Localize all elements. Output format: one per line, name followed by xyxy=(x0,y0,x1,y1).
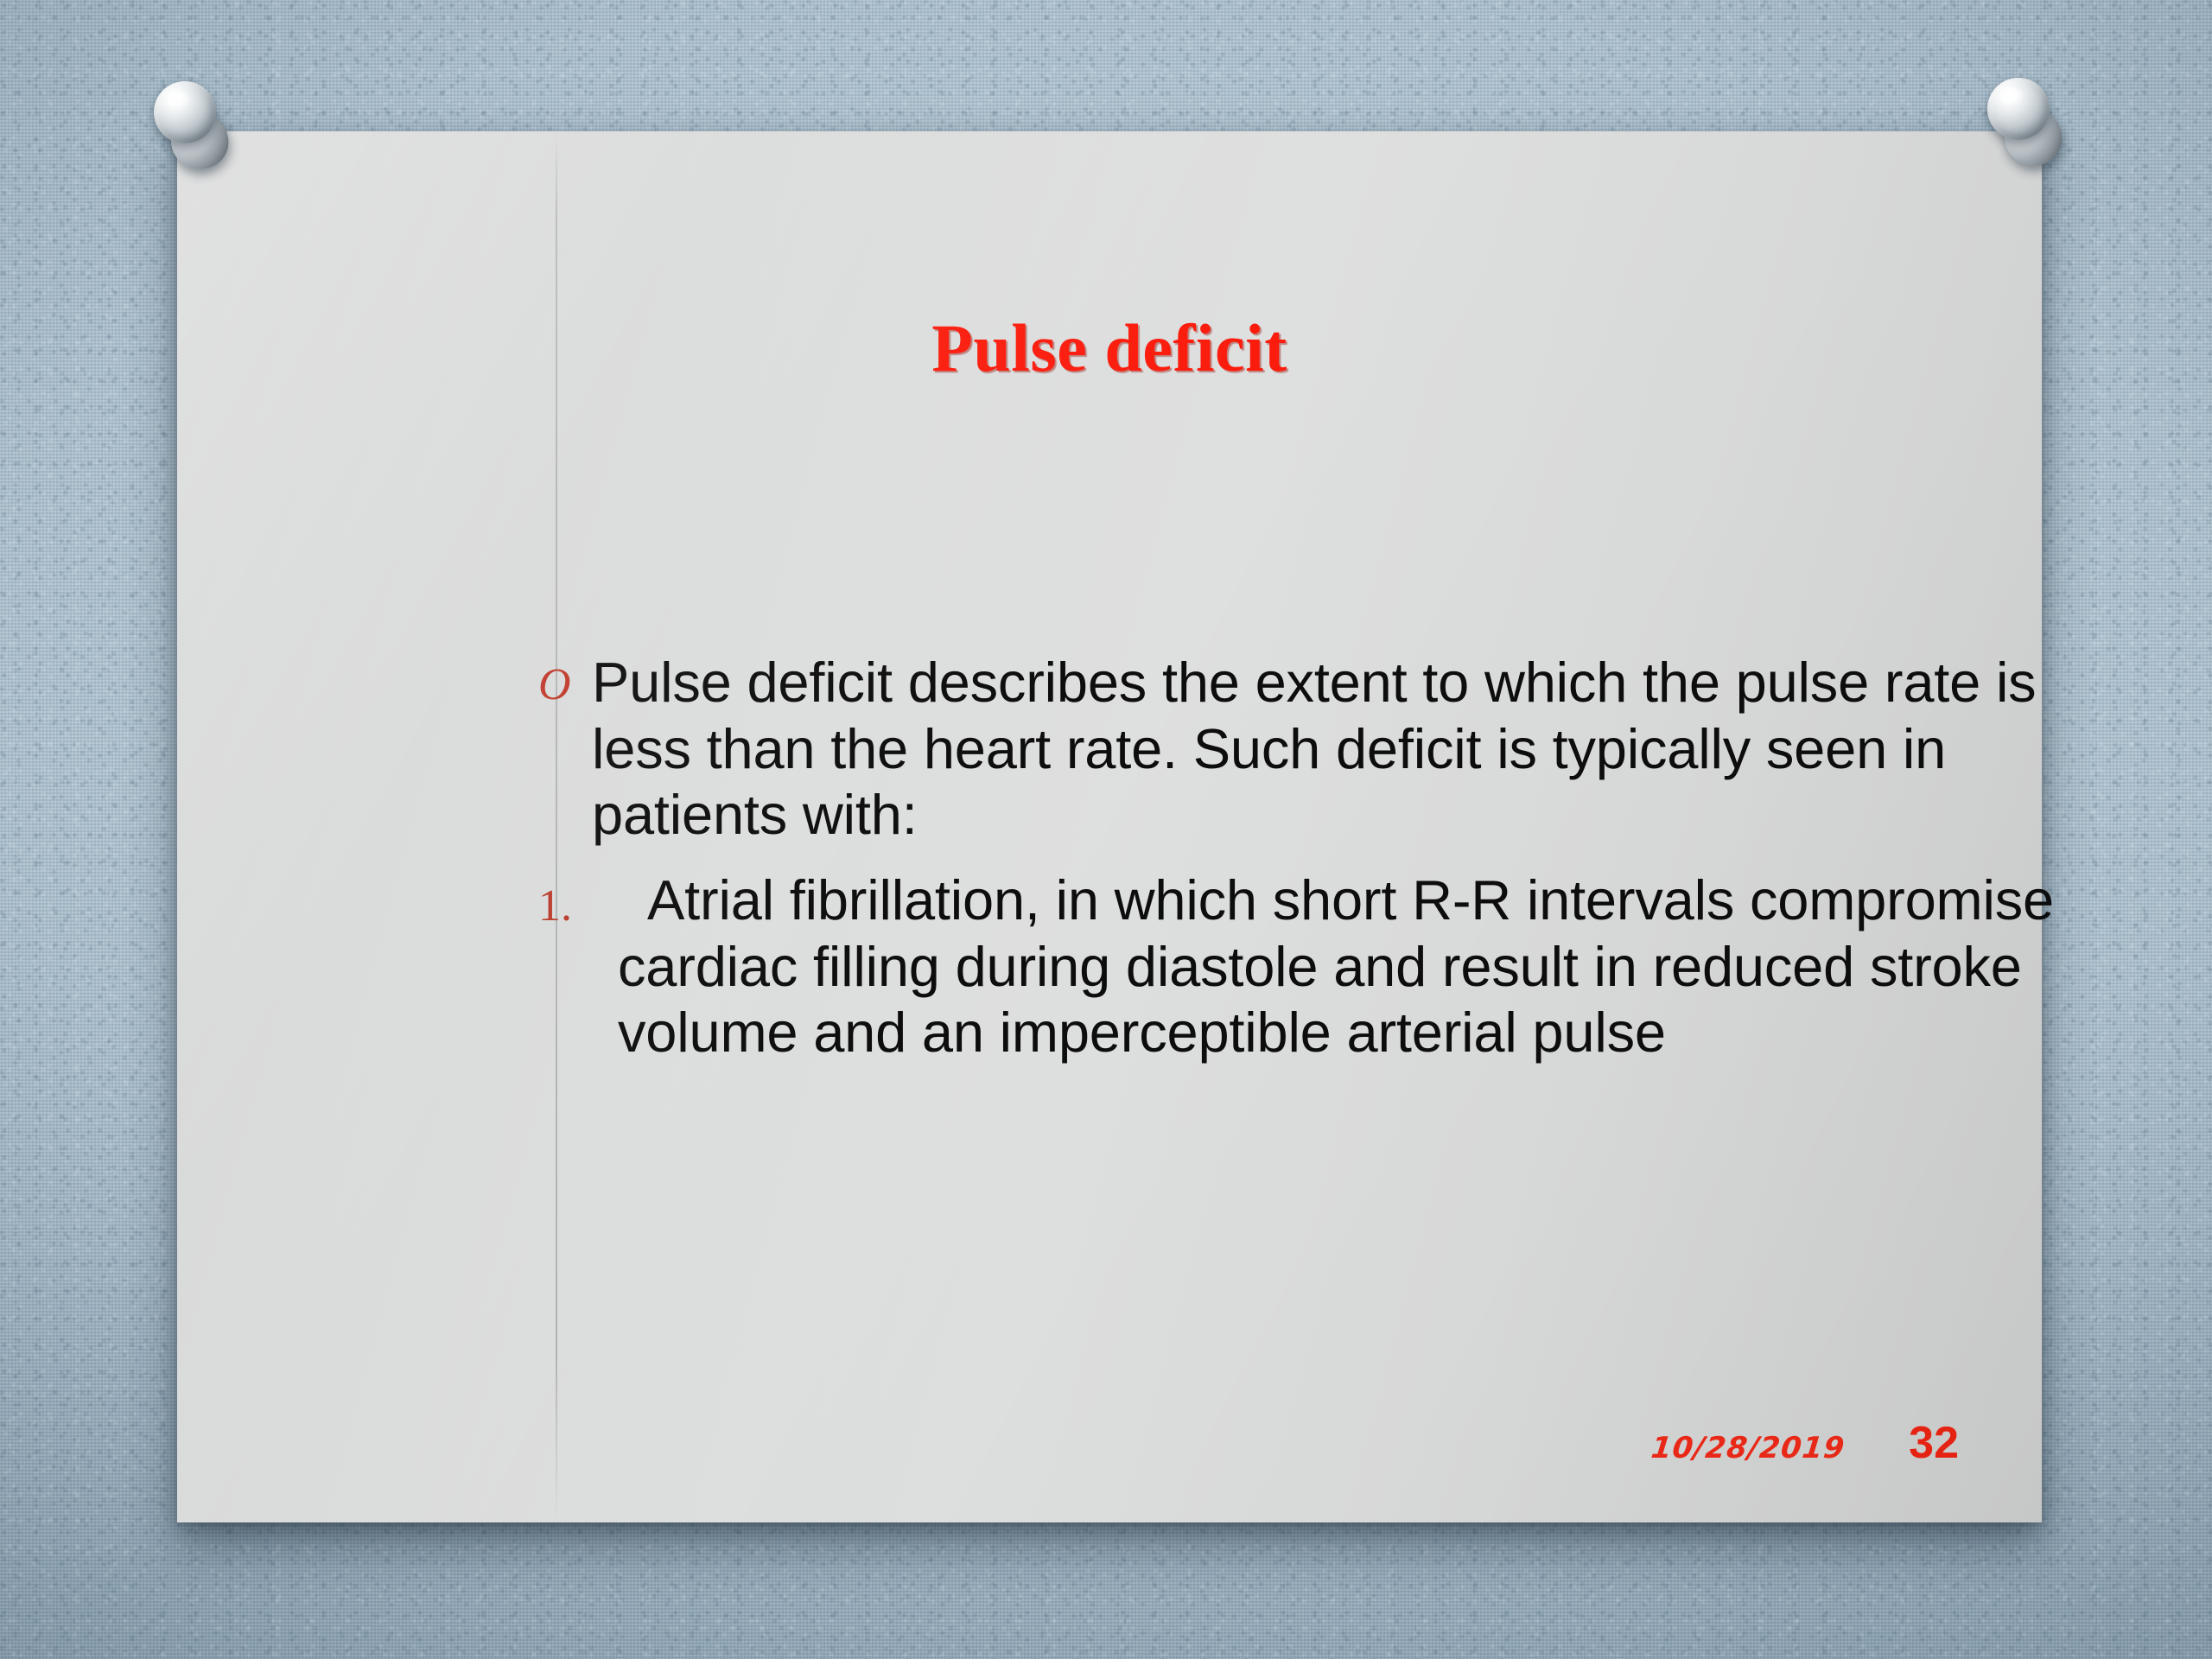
slide-body: O Pulse deficit describes the extent to … xyxy=(538,650,2059,1066)
slide-stage: Pulse deficit O Pulse deficit describes … xyxy=(0,0,2212,1659)
list-item: O Pulse deficit describes the extent to … xyxy=(538,650,2059,849)
list-number-marker: 1. xyxy=(538,868,618,932)
push-pin-icon xyxy=(145,74,254,183)
push-pin-highlight xyxy=(168,92,190,107)
bullet-text: Pulse deficit describes the extent to wh… xyxy=(592,650,2059,849)
push-pin-highlight xyxy=(2001,88,2024,104)
slide-footer: 10/28/2019 32 xyxy=(1651,1417,1959,1469)
page-title: Pulse deficit xyxy=(177,315,2042,382)
slide-card: Pulse deficit O Pulse deficit describes … xyxy=(177,131,2042,1522)
page-number: 32 xyxy=(1909,1417,1959,1469)
list-item: 1. Atrial fibrillation, in which short R… xyxy=(538,868,2059,1066)
bullet-text: Atrial fibrillation, in which short R-R … xyxy=(618,868,2059,1066)
footer-date: 10/28/2019 xyxy=(1649,1431,1847,1465)
o-bullet-icon: O xyxy=(538,650,592,711)
push-pin-head xyxy=(1987,78,2050,140)
push-pin-icon xyxy=(1979,71,2088,180)
push-pin-head xyxy=(154,81,216,143)
